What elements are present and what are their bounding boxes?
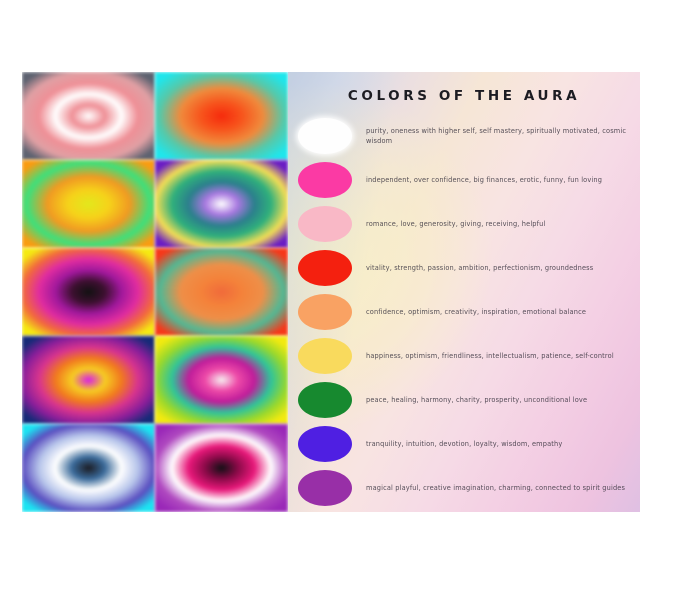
- color-swatch-light-pink: [298, 206, 352, 242]
- aura-cell: [155, 248, 288, 336]
- color-swatch-orange: [298, 294, 352, 330]
- legend-description: independent, over confidence, big financ…: [366, 175, 634, 185]
- list-item: romance, love, generosity, giving, recei…: [298, 202, 634, 246]
- aura-image-grid: [22, 72, 288, 512]
- list-item: vitality, strength, passion, ambition, p…: [298, 246, 634, 290]
- color-swatch-green: [298, 382, 352, 418]
- list-item: happiness, optimism, friendliness, intel…: [298, 334, 634, 378]
- color-swatch-white: [298, 118, 352, 154]
- aura-cell: [22, 336, 155, 424]
- color-swatch-yellow: [298, 338, 352, 374]
- color-swatch-blue-violet: [298, 426, 352, 462]
- color-swatch-red: [298, 250, 352, 286]
- legend-description: peace, healing, harmony, charity, prospe…: [366, 395, 634, 405]
- legend-description: tranquility, intuition, devotion, loyalt…: [366, 439, 634, 449]
- legend-description: romance, love, generosity, giving, recei…: [366, 219, 634, 229]
- aura-cell: [155, 72, 288, 160]
- legend-description: happiness, optimism, friendliness, intel…: [366, 351, 634, 361]
- legend-description: purity, oneness with higher self, self m…: [366, 126, 634, 146]
- legend-description: magical playful, creative imagination, c…: [366, 483, 634, 493]
- aura-infographic: COLORS OF THE AURA purity, oneness with …: [22, 72, 640, 512]
- list-item: independent, over confidence, big financ…: [298, 158, 634, 202]
- aura-cell: [22, 160, 155, 248]
- page-title: COLORS OF THE AURA: [288, 72, 640, 110]
- aura-cell: [155, 424, 288, 512]
- aura-cell: [155, 336, 288, 424]
- list-item: tranquility, intuition, devotion, loyalt…: [298, 422, 634, 466]
- color-swatch-purple: [298, 470, 352, 506]
- aura-cell: [22, 72, 155, 160]
- aura-legend-panel: COLORS OF THE AURA purity, oneness with …: [288, 72, 640, 512]
- list-item: confidence, optimism, creativity, inspir…: [298, 290, 634, 334]
- list-item: purity, oneness with higher self, self m…: [298, 114, 634, 158]
- legend-list: purity, oneness with higher self, self m…: [288, 110, 640, 510]
- color-swatch-magenta-pink: [298, 162, 352, 198]
- legend-description: confidence, optimism, creativity, inspir…: [366, 307, 634, 317]
- list-item: magical playful, creative imagination, c…: [298, 466, 634, 510]
- legend-description: vitality, strength, passion, ambition, p…: [366, 263, 634, 273]
- aura-cell: [22, 424, 155, 512]
- list-item: peace, healing, harmony, charity, prospe…: [298, 378, 634, 422]
- aura-cell: [22, 248, 155, 336]
- aura-cell: [155, 160, 288, 248]
